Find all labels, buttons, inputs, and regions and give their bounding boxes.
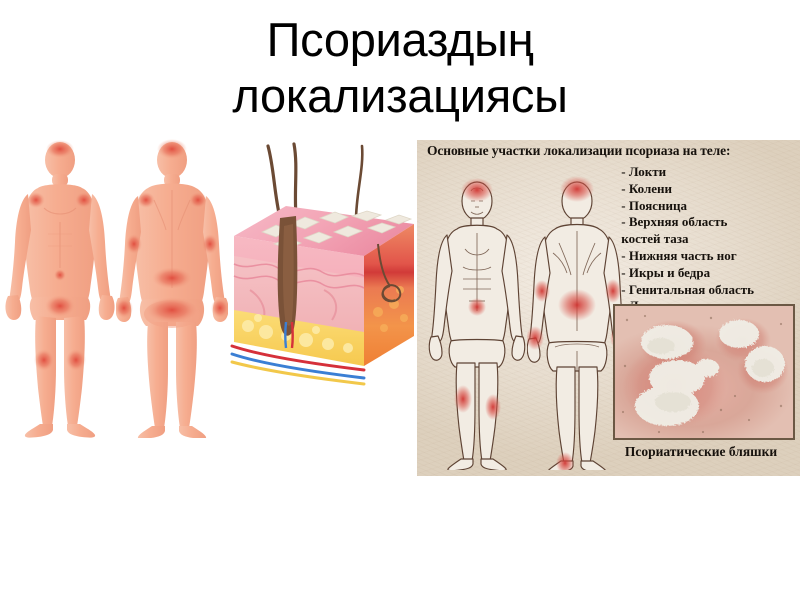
page-title: Псориаздың локализациясы	[0, 12, 800, 124]
sketch-lesion-right-knee	[485, 394, 501, 420]
sketch-figures-group	[422, 175, 637, 470]
list-item: - Локти	[621, 164, 754, 181]
lesion-groin	[45, 295, 75, 317]
lesion-left-shoulder-back	[137, 192, 155, 208]
sketch-figure-front	[427, 175, 527, 470]
psoriatic-plaques-photo	[613, 304, 795, 440]
body-figures-group	[0, 138, 228, 438]
sketch-lesion-left-elbow	[534, 280, 550, 302]
list-item: - Нижняя часть ног	[621, 248, 754, 265]
lesion-right-shoulder	[75, 192, 93, 208]
sketch-lesion-navel	[468, 298, 486, 316]
lesion-right-shoulder-back	[189, 192, 207, 208]
lesion-lower-back	[152, 267, 192, 289]
page-title-line-1: Псориаздың	[0, 12, 800, 68]
lesion-right-elbow	[202, 234, 218, 254]
sketch-lesion-scalp	[461, 178, 493, 202]
lesion-left-elbow	[126, 234, 142, 254]
lesion-left-knee	[34, 349, 54, 371]
list-item: - Икры и бедра	[621, 265, 754, 282]
psoriasis-localization-sketch-illustration: Основные участки локализации псориаза на…	[417, 140, 800, 476]
sketch-lesion-right-elbow	[605, 279, 621, 303]
psoriasis-vector-illustration: Psoriasis VectorStock® VectorStock.com/1…	[0, 138, 414, 478]
skin-cross-section-diagram	[228, 140, 414, 390]
lesion-right-knee	[66, 349, 86, 371]
body-figure-front	[4, 138, 116, 438]
lesion-site-list: - Локти - Колени - Поясница - Верхняя об…	[621, 164, 754, 315]
list-item: костей таза	[621, 231, 754, 248]
list-item: - Генитальная область	[621, 282, 754, 299]
lesion-buttocks	[146, 297, 198, 323]
sketch-lesion-left-knee	[454, 385, 472, 413]
list-item: - Верхняя область	[621, 214, 754, 231]
plaque-photo-caption: Псориатические бляшки	[603, 444, 799, 460]
sketch-figure-back	[527, 175, 627, 470]
list-item: - Поясница	[621, 198, 754, 215]
lesion-scalp-back	[157, 139, 187, 159]
sketch-lesion-lower-back	[558, 289, 596, 321]
sketch-lesion-scalp-back	[560, 176, 594, 202]
lesion-navel	[54, 269, 66, 281]
page-title-line-2: локализациясы	[0, 68, 800, 124]
list-item: - Колени	[621, 181, 754, 198]
lesion-scalp	[46, 140, 74, 158]
plaque-photo-content	[615, 306, 793, 438]
sketch-heading: Основные участки локализации псориаза на…	[427, 143, 795, 159]
body-figure-back	[116, 138, 228, 438]
lesion-left-shoulder	[27, 192, 45, 208]
